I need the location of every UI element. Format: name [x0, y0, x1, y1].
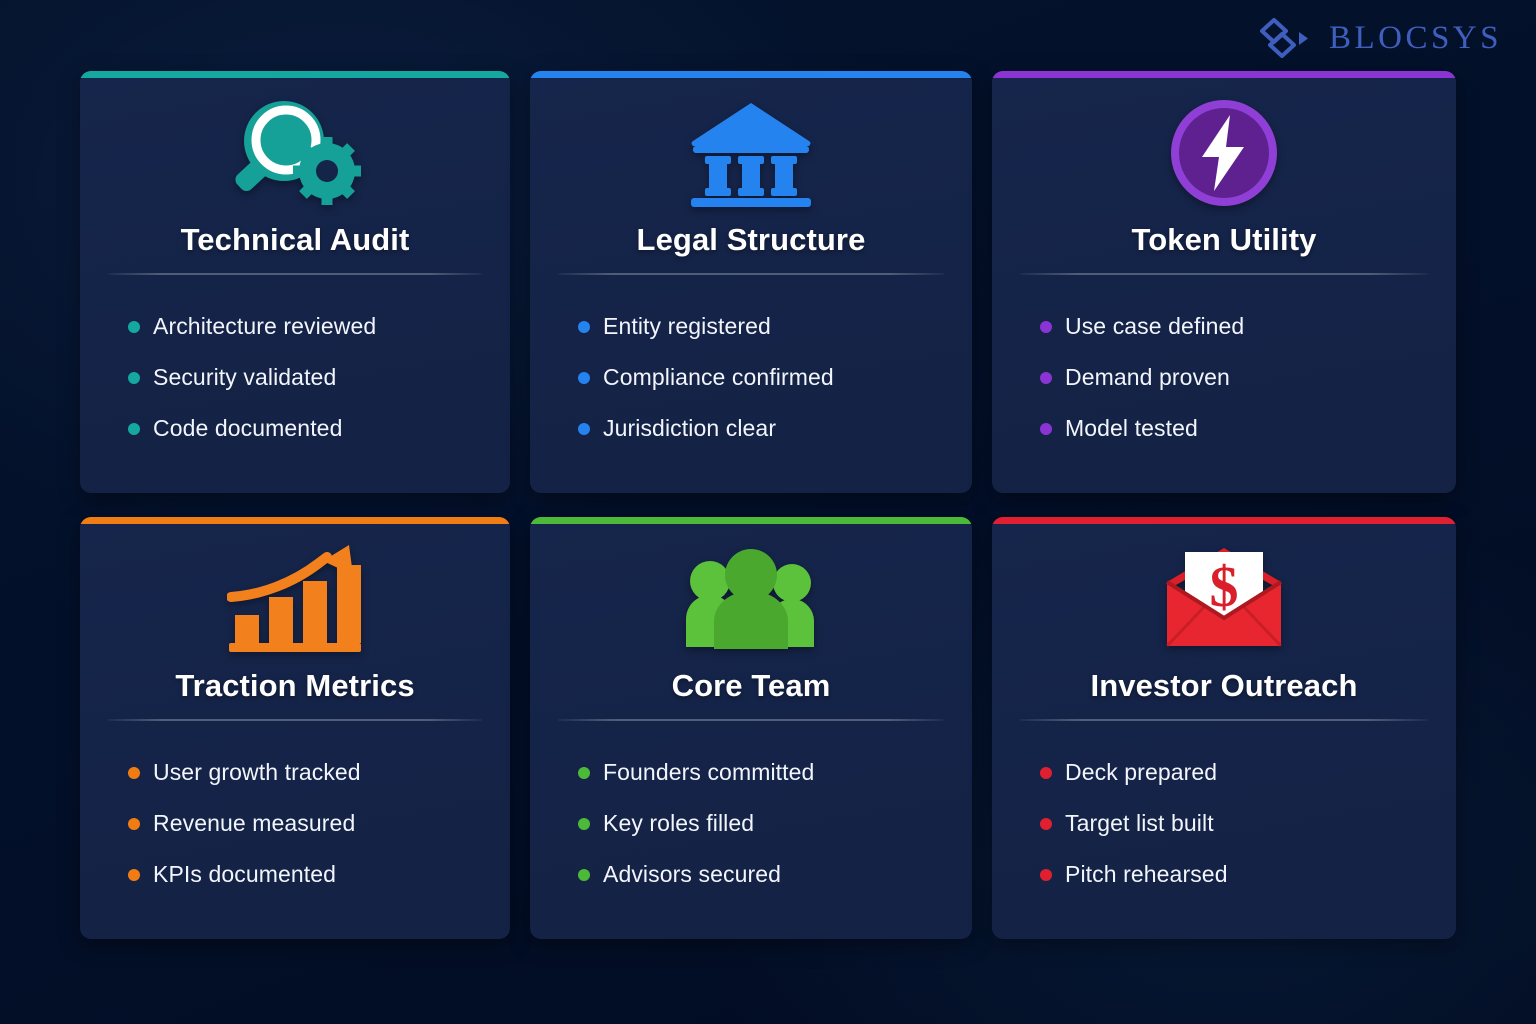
list-item-label: Code documented [153, 415, 342, 442]
list-item-label: Entity registered [603, 313, 771, 340]
list-item-label: KPIs documented [153, 861, 336, 888]
list-item: Jurisdiction clear [578, 403, 948, 454]
lightning-bolt-circle-icon [1016, 83, 1432, 223]
list-item-label: Pitch rehearsed [1065, 861, 1228, 888]
list-item-label: Compliance confirmed [603, 364, 834, 391]
checklist-items: Use case defined Demand proven Model tes… [1016, 301, 1432, 454]
card-legal-structure[interactable]: Legal Structure Entity registered Compli… [530, 71, 972, 493]
bullet-dot-icon [578, 869, 590, 881]
list-item: Target list built [1040, 798, 1432, 849]
checklist-items: Founders committed Key roles filled Advi… [554, 747, 948, 900]
list-item-label: Architecture reviewed [153, 313, 376, 340]
title-divider [1020, 719, 1428, 721]
bullet-dot-icon [1040, 869, 1052, 881]
list-item: Model tested [1040, 403, 1432, 454]
list-item-label: Advisors secured [603, 861, 781, 888]
card-investor-outreach[interactable]: $ Investor Outreach Deck prepared Target… [992, 517, 1456, 939]
brand-logo[interactable]: BLOCSYS [1253, 14, 1502, 62]
bullet-dot-icon [578, 423, 590, 435]
card-traction-metrics[interactable]: Traction Metrics User growth tracked Rev… [80, 517, 510, 939]
title-divider [108, 273, 482, 275]
list-item-label: Target list built [1065, 810, 1214, 837]
bullet-dot-icon [1040, 767, 1052, 779]
list-item: Architecture reviewed [128, 301, 486, 352]
list-item-label: User growth tracked [153, 759, 361, 786]
card-technical-audit[interactable]: Technical Audit Architecture reviewed Se… [80, 71, 510, 493]
list-item: Key roles filled [578, 798, 948, 849]
list-item-label: Founders committed [603, 759, 814, 786]
list-item: Founders committed [578, 747, 948, 798]
title-divider [108, 719, 482, 721]
bullet-dot-icon [128, 372, 140, 384]
list-item: KPIs documented [128, 849, 486, 900]
list-item: Revenue measured [128, 798, 486, 849]
bullet-dot-icon [128, 767, 140, 779]
card-title: Traction Metrics [104, 669, 486, 703]
magnifier-gear-icon [104, 83, 486, 223]
list-item: User growth tracked [128, 747, 486, 798]
list-item: Code documented [128, 403, 486, 454]
title-divider [558, 273, 944, 275]
bullet-dot-icon [578, 372, 590, 384]
list-item: Pitch rehearsed [1040, 849, 1432, 900]
envelope-dollar-icon: $ [1016, 529, 1432, 669]
list-item-label: Security validated [153, 364, 336, 391]
bullet-dot-icon [128, 321, 140, 333]
card-title: Technical Audit [104, 223, 486, 257]
bullet-dot-icon [128, 869, 140, 881]
checklist-items: Architecture reviewed Security validated… [104, 301, 486, 454]
checklist-card-grid: Technical Audit Architecture reviewed Se… [80, 71, 1456, 939]
checklist-items: Entity registered Compliance confirmed J… [554, 301, 948, 454]
list-item: Security validated [128, 352, 486, 403]
growth-bar-chart-icon [104, 529, 486, 669]
title-divider [1020, 273, 1428, 275]
card-title: Core Team [554, 669, 948, 703]
card-title: Legal Structure [554, 223, 948, 257]
list-item: Use case defined [1040, 301, 1432, 352]
card-token-utility[interactable]: Token Utility Use case defined Demand pr… [992, 71, 1456, 493]
card-title: Token Utility [1016, 223, 1432, 257]
people-group-icon [554, 529, 948, 669]
list-item-label: Deck prepared [1065, 759, 1217, 786]
card-title: Investor Outreach [1016, 669, 1432, 703]
list-item-label: Use case defined [1065, 313, 1244, 340]
title-divider [558, 719, 944, 721]
list-item: Entity registered [578, 301, 948, 352]
bullet-dot-icon [1040, 372, 1052, 384]
interlocking-links-icon [1253, 15, 1315, 61]
list-item-label: Demand proven [1065, 364, 1230, 391]
list-item-label: Key roles filled [603, 810, 754, 837]
list-item-label: Jurisdiction clear [603, 415, 776, 442]
bullet-dot-icon [1040, 321, 1052, 333]
bullet-dot-icon [578, 321, 590, 333]
checklist-items: User growth tracked Revenue measured KPI… [104, 747, 486, 900]
list-item: Demand proven [1040, 352, 1432, 403]
list-item: Compliance confirmed [578, 352, 948, 403]
bullet-dot-icon [1040, 818, 1052, 830]
checklist-items: Deck prepared Target list built Pitch re… [1016, 747, 1432, 900]
list-item: Advisors secured [578, 849, 948, 900]
bullet-dot-icon [578, 767, 590, 779]
bullet-dot-icon [128, 818, 140, 830]
list-item-label: Model tested [1065, 415, 1198, 442]
bullet-dot-icon [1040, 423, 1052, 435]
bank-building-icon [554, 83, 948, 223]
list-item-label: Revenue measured [153, 810, 355, 837]
bullet-dot-icon [578, 818, 590, 830]
card-core-team[interactable]: Core Team Founders committed Key roles f… [530, 517, 972, 939]
list-item: Deck prepared [1040, 747, 1432, 798]
brand-name: BLOCSYS [1329, 20, 1502, 57]
bullet-dot-icon [128, 423, 140, 435]
